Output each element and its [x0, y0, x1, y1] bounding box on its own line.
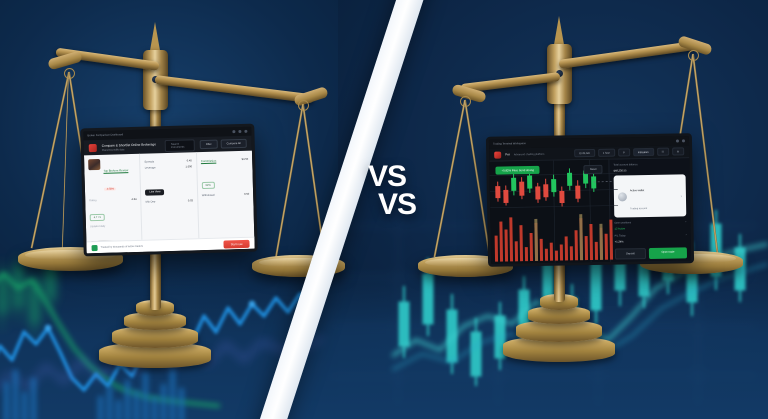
versus-hero-composition: Broker Comparison Dashboard Compare & Sh… [0, 0, 768, 419]
metric-label: Withdrawal [202, 194, 215, 197]
broker-avatar [88, 159, 100, 170]
wallet-title: Active wallet [630, 189, 644, 192]
broker-note: Updated daily [90, 224, 137, 228]
commission-value: $4.50 [242, 158, 249, 162]
compare-all-button[interactable]: Compare All [220, 139, 246, 149]
metric-label: Spreads [144, 160, 154, 163]
chevron-right-icon[interactable]: › [686, 232, 687, 236]
app-subtitle: Overview profile data [102, 147, 156, 152]
brand-mark-red-icon [89, 144, 97, 152]
sidebar-actions: Deposit Open trade [615, 247, 687, 259]
brand-mark-red-icon [494, 151, 501, 158]
terminal-body: +0.82% Price trend strong Reset [489, 158, 691, 264]
minimize-icon[interactable] [232, 130, 235, 133]
chevron-right-icon[interactable]: › [685, 219, 686, 223]
open-trade-button[interactable]: Open trade [649, 247, 687, 259]
search-icon[interactable]: ⚲ [618, 148, 630, 156]
window-controls-left[interactable] [232, 130, 247, 133]
column-broker: Top Brokers Review -0.58% Rating 4.64 4.… [84, 154, 143, 254]
active-wallet-card[interactable]: Active wallet Trading account › [614, 174, 687, 217]
commission-label[interactable]: Commission [201, 159, 216, 163]
verified-icon [91, 245, 97, 251]
metric-label: Min Dep [146, 200, 156, 203]
open-positions-row: Open positions › [614, 219, 686, 224]
deposit-button[interactable]: Deposit [615, 248, 646, 260]
balance-label: Total account balance [613, 162, 685, 166]
platform-a-screenshot[interactable]: Broker Comparison Dashboard Compare & Sh… [80, 124, 258, 257]
versus-label-bottom: VS [378, 188, 416, 222]
open-positions-value: 12 Active [614, 226, 686, 230]
timeframe-selector[interactable]: 1 hour [598, 149, 615, 157]
reset-button[interactable]: Reset [584, 165, 603, 174]
metric-label: Leverage [145, 166, 156, 169]
metric-value: 0.50 [244, 193, 249, 196]
pl-today-value: +1.24% [615, 239, 687, 243]
settings-icon[interactable]: ⚙ [672, 147, 684, 155]
pl-today-row: P/L Today › [615, 232, 687, 237]
broker-link[interactable]: Top Brokers Review [103, 168, 128, 173]
symbol-selector[interactable]: EURUSD [574, 149, 595, 157]
change-badge: -0.58% [104, 187, 116, 190]
window-controls-right[interactable] [676, 139, 685, 142]
balance-value: $48,230.55 [613, 168, 685, 172]
metric-value: 1:500 [185, 165, 192, 168]
metric-row: Leverage 1:500 [145, 165, 192, 169]
filter-button[interactable]: Filter [200, 140, 218, 149]
search-input[interactable]: Search instruments [165, 139, 195, 152]
close-icon[interactable] [682, 139, 685, 142]
chevron-right-icon[interactable]: › [681, 193, 682, 198]
grid-icon[interactable]: ☷ [657, 148, 669, 156]
maximize-icon[interactable] [238, 130, 241, 133]
live-view-button[interactable]: Live View [145, 189, 164, 196]
metric-value: 0.45 [187, 159, 192, 162]
footer-text: Trusted by thousands of active traders [101, 245, 144, 249]
metric-row: Withdrawal 0.50 [202, 193, 249, 197]
metric-row: Spreads 0.45 [144, 159, 191, 163]
rating-pill: 4.7 / 5 [90, 214, 105, 221]
window-title-right: Trading Terminal Workspace [493, 142, 526, 146]
metric-value: 0.03 [188, 199, 193, 202]
start-now-button[interactable]: Start now [224, 239, 250, 248]
terminal-title: Pro [505, 152, 510, 156]
candlestick-chart[interactable]: +0.82% Price trend strong Reset [489, 160, 610, 265]
platform-b-screenshot[interactable]: Trading Terminal Workspace Pro Advanced … [486, 133, 694, 267]
terminal-subtitle: Advanced charting platform [514, 152, 544, 156]
close-icon[interactable] [244, 130, 247, 133]
minimize-icon[interactable] [676, 139, 679, 142]
broker-value: 4.64 [131, 198, 136, 201]
payout-pill: 92% [201, 182, 214, 189]
broker-value-label: Rating [89, 199, 96, 202]
column-metrics-2: Commission $4.50 92% Withdrawal 0.50 [197, 151, 255, 251]
indicators-button[interactable]: Indicators [633, 148, 654, 156]
metric-row: Min Dep 0.03 [146, 199, 193, 203]
metric-row: Commission $4.50 [201, 158, 248, 163]
wallet-subtitle: Trading account [630, 207, 647, 210]
broker-value-row: Rating 4.64 [89, 198, 136, 202]
wallet-icon [618, 192, 627, 201]
window-title-left: Broker Comparison Dashboard [87, 133, 123, 137]
trend-badge: +0.82% Price trend strong [495, 166, 540, 175]
broker-row[interactable]: Top Brokers Review -0.58% [88, 158, 136, 195]
column-metrics-1: Spreads 0.45 Leverage 1:500 Live View Mi… [140, 152, 199, 252]
terminal-sidebar: Total account balance $48,230.55 Active … [608, 158, 691, 262]
